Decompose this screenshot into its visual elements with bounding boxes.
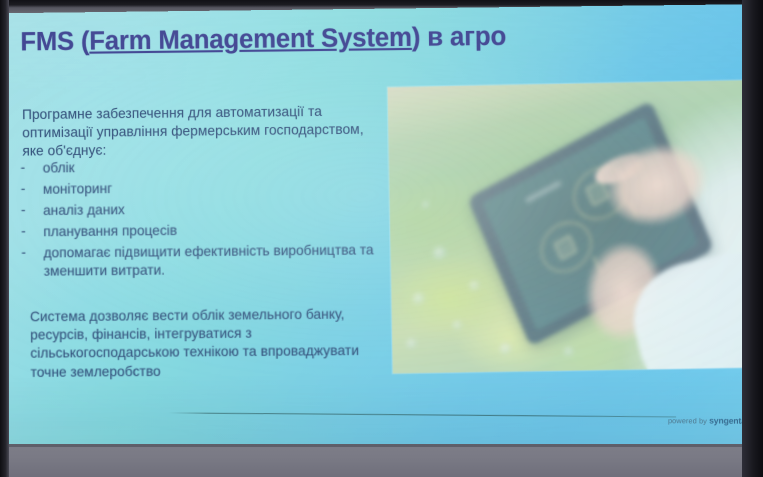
slide-title: FMS (Farm Management System) в агро: [20, 22, 506, 57]
room-left-edge: [0, 0, 9, 477]
title-prefix: FMS (: [20, 27, 89, 56]
syngenta-brand-label: syngenta: [709, 415, 746, 425]
list-item-label: планування процесів: [43, 223, 177, 239]
bullet-dash-icon: -: [20, 159, 25, 178]
list-item: - облік: [16, 156, 392, 179]
powered-by-syngenta-logo: powered by syngenta: [668, 415, 746, 426]
bullet-dash-icon: -: [21, 180, 26, 199]
bullet-dash-icon: -: [21, 243, 26, 262]
intro-paragraph: Програмне забезпечення для автоматизації…: [22, 102, 386, 161]
title-suffix: ) в агро: [412, 22, 507, 52]
footer-divider: [168, 412, 676, 417]
projected-slide-photo: FMS (Farm Management System) в агро Прог…: [0, 0, 763, 477]
list-item: - планування процесів: [17, 219, 393, 241]
presentation-slide: FMS (Farm Management System) в агро Прог…: [3, 4, 756, 455]
feature-bullet-list: - облік - моніторинг - аналіз даних - пл…: [16, 156, 393, 284]
tablet-in-field-photo: [388, 80, 752, 373]
list-item-label: аналіз даних: [43, 202, 125, 218]
room-right-edge: [742, 0, 763, 477]
list-item-label: допомагає підвищити ефективність виробни…: [43, 242, 373, 279]
bullet-dash-icon: -: [21, 222, 26, 241]
powered-by-label: powered by: [668, 416, 709, 426]
list-item-label: облік: [43, 160, 75, 175]
summary-paragraph: Система дозволяє вести облік земельного …: [30, 305, 385, 382]
photo-projector-wash: [388, 80, 752, 373]
bullet-dash-icon: -: [21, 201, 26, 220]
list-item: - моніторинг: [17, 177, 393, 199]
title-underlined-term: Farm Management System: [89, 24, 412, 56]
list-item: - допомагає підвищити ефективність вироб…: [17, 241, 393, 282]
list-item: - аналіз даних: [17, 198, 393, 220]
list-item-label: моніторинг: [43, 181, 112, 197]
room-wall-below-screen: [0, 444, 763, 477]
